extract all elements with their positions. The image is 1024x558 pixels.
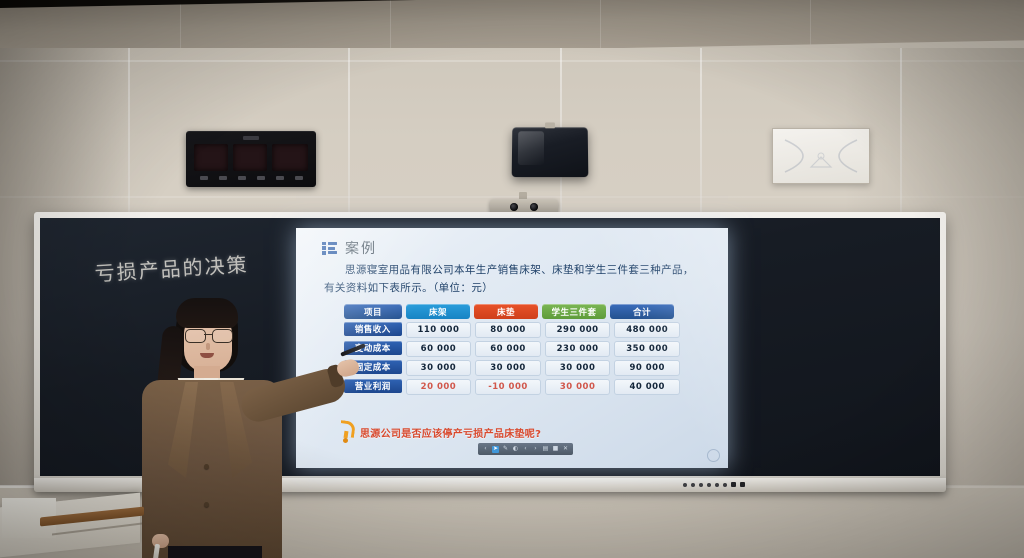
wall-poster: [772, 128, 870, 184]
table-cell: 30 000: [545, 360, 611, 376]
table-cell: 60 000: [475, 341, 541, 357]
table-cell: 20 000: [406, 379, 472, 395]
table-row: 固定成本 30 000 30 000 30 000 90 000: [344, 360, 680, 376]
led-button-row[interactable]: [194, 174, 308, 182]
table-header-cell: 床架: [406, 304, 470, 319]
table-header-cell: 床垫: [474, 304, 538, 319]
table-header-cell: 学生三件套: [542, 304, 606, 319]
led-display-panel[interactable]: [186, 131, 316, 187]
led-brand-mark: [243, 136, 259, 140]
table-cell: 80 000: [475, 322, 541, 338]
board-control-buttons[interactable]: [683, 481, 761, 488]
table-cell: 30 000: [475, 360, 541, 376]
pointer-icon[interactable]: ➤: [492, 446, 499, 453]
question-text: 思源公司是否应该停产亏损产品床垫呢?: [360, 425, 541, 440]
table-cell: 350 000: [614, 341, 680, 357]
table-cell: 290 000: [545, 322, 611, 338]
pen-icon[interactable]: ✎: [502, 446, 509, 453]
bulleted-list-icon: [322, 242, 337, 255]
slide-header: 案例: [322, 238, 377, 258]
step-back-icon[interactable]: ‹: [522, 446, 529, 453]
prev-arrow-icon[interactable]: ‹: [482, 446, 489, 453]
table-cell: 30 000: [406, 360, 472, 376]
presenter: [124, 296, 356, 558]
table-cell: -10 000: [475, 379, 541, 395]
screen-watermark-icon: [707, 449, 720, 462]
wall-speaker: [512, 127, 589, 177]
note-icon[interactable]: ▤: [542, 446, 549, 453]
table-row: 营业利润 20 000 -10 000 30 000 40 000: [344, 379, 680, 395]
step-forward-icon[interactable]: ›: [532, 446, 539, 453]
poster-graphic-icon: [783, 137, 859, 175]
table-cell: 30 000: [545, 379, 611, 395]
table-row: 变动成本 60 000 60 000 230 000 350 000: [344, 341, 680, 357]
lower-garment: [168, 546, 262, 558]
table-row: 销售收入 110 000 80 000 290 000 480 000: [344, 322, 680, 338]
stop-icon[interactable]: ■: [552, 446, 559, 453]
camera-lens-right: [530, 203, 538, 211]
table-header-cell: 合计: [610, 304, 674, 319]
camera-lens-left: [510, 203, 518, 211]
slide-body-text: 思源寝室用品有限公司本年生产销售床架、床垫和学生三件套三种产品，有关资料如下表所…: [324, 261, 702, 297]
fringe: [176, 298, 238, 328]
glasses-icon: [185, 329, 231, 341]
highlighter-icon[interactable]: ◐: [512, 446, 519, 453]
classroom-scene: 亏损产品的决策 案例 思源寝室用品有限公司本年生产销售床架、床垫和学生三件套三种…: [0, 0, 1024, 558]
table-cell: 40 000: [614, 379, 680, 395]
slide-title: 案例: [345, 238, 377, 258]
presentation-toolbar[interactable]: ‹ ➤ ✎ ◐ ‹ › ▤ ■ ✕: [478, 443, 573, 455]
table-cell: 110 000: [406, 322, 472, 338]
table-cell: 60 000: [406, 341, 472, 357]
close-icon[interactable]: ✕: [562, 446, 569, 453]
question-block: 思源公司是否应该停产亏损产品床垫呢?: [338, 421, 678, 443]
speaker-mount: [545, 122, 555, 128]
table-header-row: 项目 床架 床垫 学生三件套 合计: [344, 304, 680, 319]
data-table: 项目 床架 床垫 学生三件套 合计 销售收入 110 000 80 000 29…: [344, 304, 680, 395]
table-cell: 480 000: [614, 322, 680, 338]
table-cell: 230 000: [545, 341, 611, 357]
table-cell: 90 000: [614, 360, 680, 376]
